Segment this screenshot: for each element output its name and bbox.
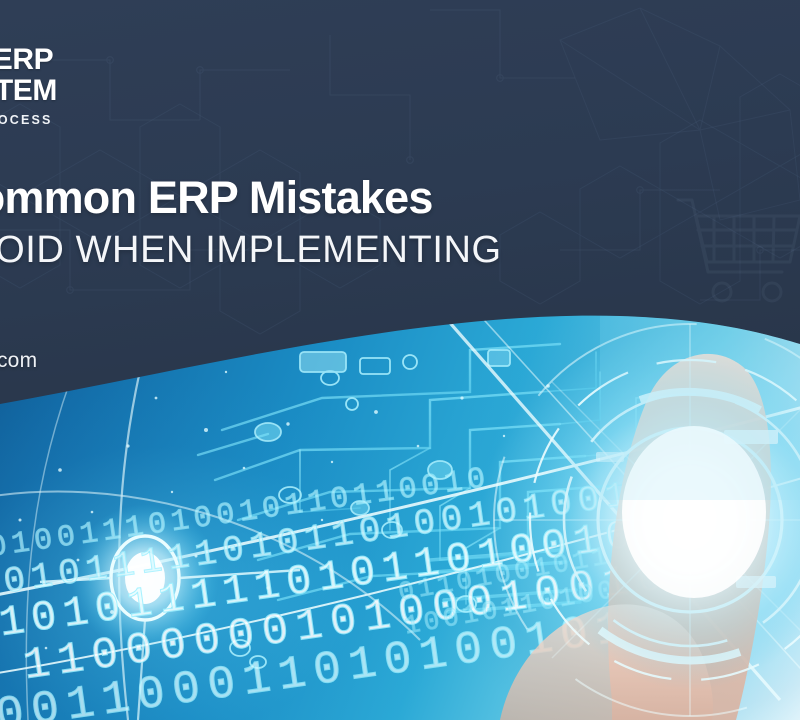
logo[interactable]: CIS ERP SYSTEM OUR PROCESS	[0, 44, 166, 127]
logo-tagline: OUR PROCESS	[0, 113, 166, 127]
erp-blog-banner: CIS ERP SYSTEM OUR PROCESS Common ERP Mi…	[0, 0, 800, 720]
headline-main: Common ERP Mistakes	[0, 172, 800, 224]
headline: Common ERP Mistakes AVOID WHEN IMPLEMENT…	[0, 172, 800, 274]
logo-line-2: SYSTEM	[0, 75, 166, 106]
headline-sub: AVOID WHEN IMPLEMENTING	[0, 226, 800, 274]
site-url[interactable]: erp.com	[0, 349, 37, 373]
logo-line-1: CIS ERP	[0, 44, 166, 75]
